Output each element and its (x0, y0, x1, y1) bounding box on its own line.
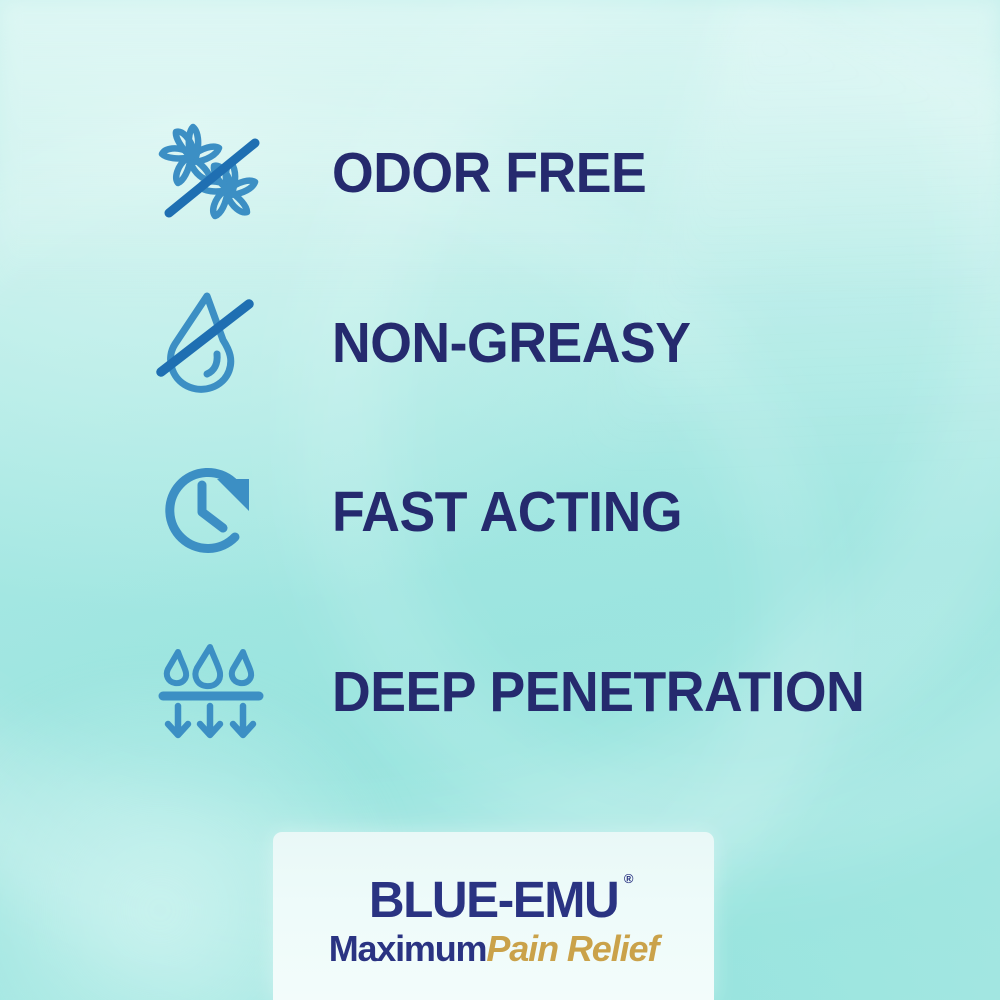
feature-row: ODOR FREE (152, 118, 666, 228)
brand-wordmark-text: BLUE-EMU (369, 871, 618, 928)
no-odor-flower-icon (152, 118, 270, 228)
feature-label: NON-GREASY (332, 315, 690, 372)
deep-penetration-droplets-arrows-icon (152, 637, 270, 747)
feature-label: DEEP PENETRATION (332, 664, 864, 721)
fast-acting-clock-icon (152, 457, 270, 567)
brand-logo-panel: BLUE-EMU® MaximumPain Relief (273, 832, 714, 1000)
brand-tagline: MaximumPain Relief (329, 931, 659, 967)
tagline-maximum: Maximum (329, 928, 487, 969)
feature-label: ODOR FREE (332, 145, 646, 202)
no-grease-droplet-icon (152, 288, 270, 398)
feature-label: FAST ACTING (332, 484, 682, 541)
registered-trademark-icon: ® (623, 872, 633, 885)
feature-row: NON-GREASY (152, 288, 713, 398)
brand-wordmark: BLUE-EMU® (369, 874, 618, 925)
feature-row: FAST ACTING (152, 457, 704, 567)
feature-row: DEEP PENETRATION (152, 637, 898, 747)
product-feature-poster: ODOR FREE NON-GREASY (0, 0, 1000, 1000)
tagline-pain-relief: Pain Relief (486, 928, 658, 969)
